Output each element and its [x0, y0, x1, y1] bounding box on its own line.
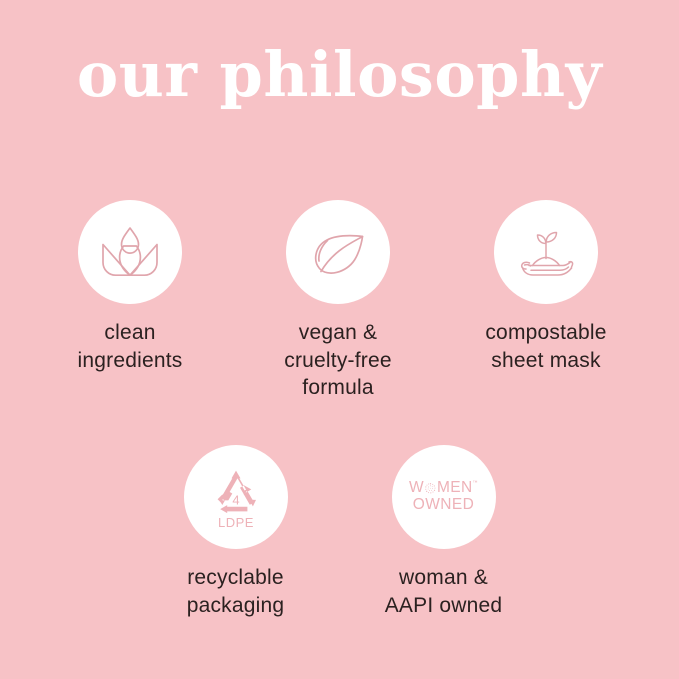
- feature-clean-ingredients: clean ingredients: [26, 200, 234, 402]
- caption-recyclable-packaging: recyclable packaging: [187, 564, 285, 619]
- hand-sprout-icon: [508, 214, 584, 290]
- caption-line: packaging: [187, 592, 285, 620]
- caption-compostable-sheet-mask: compostable sheet mask: [485, 319, 606, 374]
- recycle-number: 4: [232, 493, 239, 508]
- leaf-icon: [301, 215, 375, 289]
- women-owned-line-2: OWNED: [413, 496, 474, 513]
- recycle-material-label: LDPE: [218, 515, 254, 530]
- trademark-icon: ™: [473, 481, 478, 486]
- caption-woman-aapi-owned: woman & AAPI owned: [385, 564, 503, 619]
- caption-line: ingredients: [78, 347, 183, 375]
- caption-line: cruelty-free: [284, 347, 391, 375]
- badge-vegan-cruelty-free: [286, 200, 390, 304]
- caption-line: vegan &: [284, 319, 391, 347]
- lotus-droplet-icon: [93, 215, 167, 289]
- badge-compostable-sheet-mask: [494, 200, 598, 304]
- feature-compostable-sheet-mask: compostable sheet mask: [442, 200, 650, 402]
- badge-clean-ingredients: [78, 200, 182, 304]
- caption-line: recyclable: [187, 564, 285, 592]
- caption-line: compostable: [485, 319, 606, 347]
- caption-line: woman &: [385, 564, 503, 592]
- women-owned-line-1: W: [409, 480, 478, 496]
- women-owned-w: W: [409, 480, 424, 496]
- caption-clean-ingredients: clean ingredients: [78, 319, 183, 374]
- caption-line: sheet mask: [485, 347, 606, 375]
- philosophy-panel: our philosophy: [0, 0, 679, 679]
- caption-vegan-cruelty-free: vegan & cruelty-free formula: [284, 319, 391, 402]
- recycle-ldpe-icon: 4 LDPE: [200, 461, 272, 533]
- caption-line: AAPI owned: [385, 592, 503, 620]
- feature-recyclable-packaging: 4 LDPE recyclable packaging: [132, 445, 340, 619]
- women-owned-icon: W: [392, 445, 496, 549]
- page-title: our philosophy: [0, 44, 679, 106]
- caption-line: clean: [78, 319, 183, 347]
- feature-vegan-cruelty-free: vegan & cruelty-free formula: [234, 200, 442, 402]
- feature-woman-aapi-owned: W: [340, 445, 548, 619]
- feature-row-bottom: 4 LDPE recyclable packaging W: [0, 445, 679, 619]
- caption-line: formula: [284, 374, 391, 402]
- feature-row-top: clean ingredients vega: [0, 200, 679, 402]
- badge-woman-aapi-owned: W: [392, 445, 496, 549]
- women-owned-men: MEN: [437, 480, 473, 496]
- badge-recyclable-packaging: 4 LDPE: [184, 445, 288, 549]
- starburst-icon: [424, 482, 437, 495]
